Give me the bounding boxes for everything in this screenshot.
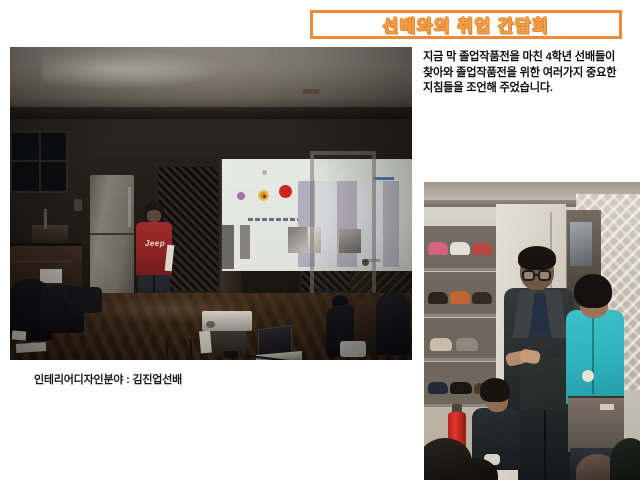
photo-presentation-room: Jeep bbox=[10, 47, 412, 360]
ceiling-glow bbox=[42, 49, 227, 89]
slide-circle-orange bbox=[258, 190, 269, 201]
shoe-rack-shelf-3 bbox=[424, 358, 496, 361]
slide-title-box: 선배와의 취업 간담회 bbox=[310, 10, 622, 39]
shoe-dark-2 bbox=[472, 292, 492, 304]
tripod-legs bbox=[165, 339, 192, 359]
slide-circle-red bbox=[279, 185, 292, 198]
page-title: 선배와의 취업 간담회 bbox=[383, 12, 550, 37]
slide-circle-purple bbox=[237, 192, 245, 200]
senior-1-leg-seam bbox=[544, 410, 546, 480]
senior-1-hair bbox=[518, 246, 556, 270]
entry-door-glass bbox=[570, 222, 592, 266]
jacket-zipper bbox=[592, 314, 594, 394]
shoe-black bbox=[450, 382, 472, 394]
power-adapter bbox=[224, 351, 238, 358]
cloth-on-box bbox=[199, 331, 212, 354]
slide-body-text: 지금 막 졸업작품전을 마친 4학년 선배들이 찾아와 졸업작품전을 위한 여러… bbox=[423, 50, 630, 97]
refrigerator-handle bbox=[128, 187, 131, 227]
presenter-face bbox=[147, 210, 161, 222]
shoe-red bbox=[472, 243, 492, 255]
slide-circle-small bbox=[262, 170, 267, 175]
white-box-item bbox=[40, 269, 62, 283]
kitchen-sink bbox=[32, 225, 68, 245]
kitchen-window bbox=[10, 131, 68, 193]
shoe-pink bbox=[428, 242, 448, 255]
photo-caption-left: 인테리어디자인분야 : 김진업선배 bbox=[34, 371, 182, 387]
projector-lens bbox=[206, 321, 215, 328]
shoe-orange bbox=[450, 291, 470, 304]
slide-label-top-right bbox=[374, 177, 394, 180]
glasses-bridge bbox=[534, 274, 539, 276]
senior-2-teal-jacket bbox=[566, 310, 624, 404]
shoe-white bbox=[450, 242, 470, 255]
shoe-rack-shelf-1 bbox=[424, 268, 496, 271]
senior-2-pocket bbox=[600, 404, 614, 410]
shoe-grey bbox=[456, 338, 478, 351]
paper-on-floor-2 bbox=[12, 330, 27, 340]
shoe-navy bbox=[428, 382, 448, 394]
refrigerator-door-seam bbox=[90, 233, 134, 235]
shoe-rack-shelf-2 bbox=[424, 314, 496, 317]
shoe-dark-1 bbox=[428, 292, 448, 304]
door-knob bbox=[362, 259, 369, 266]
shirt-logo-text: Jeep bbox=[144, 239, 166, 248]
jacket-badge bbox=[582, 370, 594, 382]
seated-person-right-3 bbox=[376, 293, 410, 355]
photo-seniors-talking bbox=[424, 182, 640, 480]
door-frame-overlay bbox=[310, 151, 376, 299]
slide-block-left-2 bbox=[240, 225, 250, 259]
wall-object bbox=[74, 199, 82, 211]
slide-panel-e bbox=[383, 181, 399, 267]
seated-student-hair bbox=[480, 378, 510, 402]
backpack bbox=[68, 287, 102, 313]
seated-person-papers bbox=[340, 341, 366, 357]
counter-seam bbox=[16, 261, 74, 262]
slide-thumbnail-1 bbox=[288, 227, 307, 253]
kitchen-faucet bbox=[44, 209, 47, 229]
ceiling-vent bbox=[303, 89, 320, 94]
shoe-beige bbox=[430, 338, 452, 351]
slide-block-left bbox=[222, 225, 234, 269]
glasses-lens-right bbox=[538, 270, 551, 281]
senior-2-hair bbox=[574, 274, 612, 308]
